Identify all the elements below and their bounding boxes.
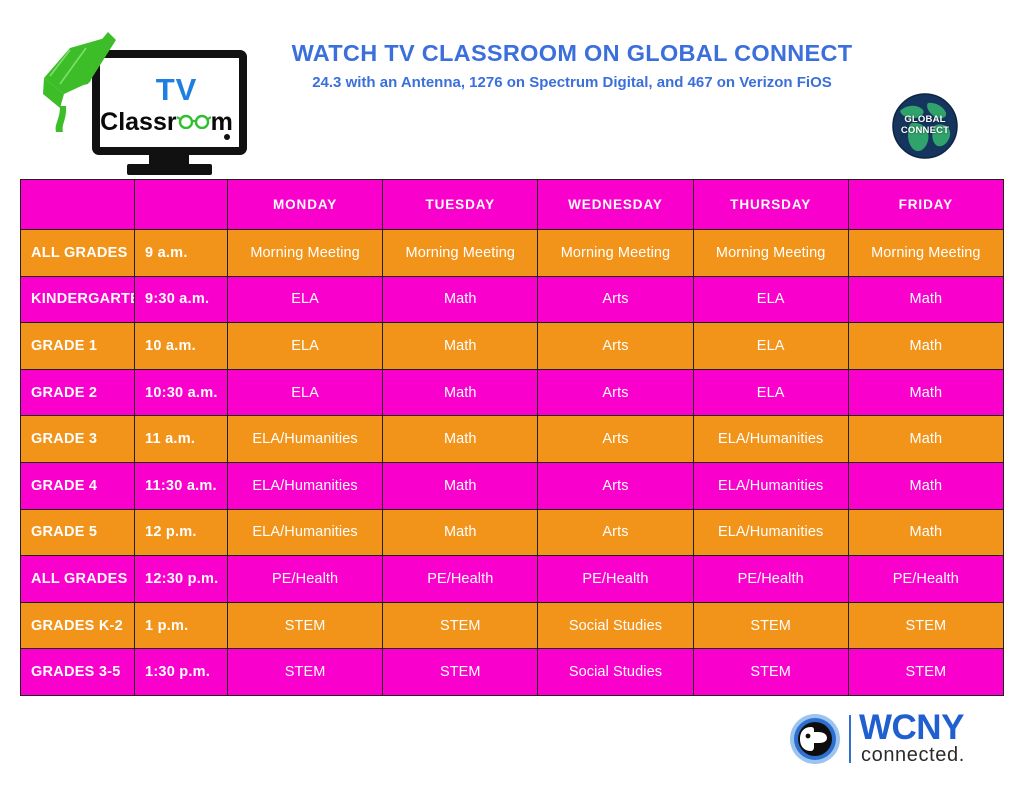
page-header: TV Classr m [0, 0, 1024, 178]
column-header-tuesday: TUESDAY [383, 180, 538, 230]
schedule-table-container: MONDAY TUESDAY WEDNESDAY THURSDAY FRIDAY… [20, 179, 1003, 696]
wcny-tagline: connected. [861, 745, 965, 765]
table-row: ALL GRADES9 a.m.Morning MeetingMorning M… [21, 230, 1004, 277]
time-label-cell: 1:30 p.m. [135, 649, 228, 696]
subject-cell: ELA/Humanities [693, 509, 848, 556]
page-subtitle: 24.3 with an Antenna, 1276 on Spectrum D… [262, 74, 882, 91]
table-row: GRADE 311 a.m.ELA/HumanitiesMathArtsELA/… [21, 416, 1004, 463]
global-connect-logo: GLOBAL CONNECT [892, 93, 958, 159]
eyeglasses-icon [177, 109, 211, 125]
grade-label-cell: GRADE 3 [21, 416, 135, 463]
time-label-cell: 12 p.m. [135, 509, 228, 556]
grade-label-cell: GRADES K-2 [21, 602, 135, 649]
subject-cell: ELA [693, 369, 848, 416]
subject-cell: PE/Health [383, 556, 538, 603]
table-row: GRADE 411:30 a.m.ELA/HumanitiesMathArtsE… [21, 462, 1004, 509]
subject-cell: ELA [693, 323, 848, 370]
subject-cell: STEM [848, 602, 1003, 649]
subject-cell: Math [383, 369, 538, 416]
classroom-text-suffix: m [211, 110, 233, 135]
globe-icon [892, 93, 958, 159]
grade-label-cell: ALL GRADES [21, 556, 135, 603]
schedule-table-body: ALL GRADES9 a.m.Morning MeetingMorning M… [21, 230, 1004, 696]
subject-cell: STEM [383, 649, 538, 696]
tv-classroom-schedule-page: TV Classr m [0, 0, 1024, 791]
page-footer: WCNY connected. [0, 697, 1024, 791]
subject-cell: Arts [538, 369, 693, 416]
subject-cell: PE/Health [538, 556, 693, 603]
grade-label-cell: GRADE 4 [21, 462, 135, 509]
subject-cell: Arts [538, 462, 693, 509]
subject-cell: Math [383, 416, 538, 463]
subject-cell: PE/Health [228, 556, 383, 603]
subject-cell: Math [848, 323, 1003, 370]
table-row: GRADES 3-51:30 p.m.STEMSTEMSocial Studie… [21, 649, 1004, 696]
schedule-table-head: MONDAY TUESDAY WEDNESDAY THURSDAY FRIDAY [21, 180, 1004, 230]
wcny-logo: WCNY connected. [789, 709, 1004, 771]
subject-cell: Morning Meeting [848, 230, 1003, 277]
tv-stand-base [127, 164, 212, 175]
subject-cell: Social Studies [538, 602, 693, 649]
subject-cell: STEM [228, 649, 383, 696]
subject-cell: STEM [383, 602, 538, 649]
tv-logo-word-tv: TV [156, 74, 198, 105]
table-row: GRADE 210:30 a.m.ELAMathArtsELAMath [21, 369, 1004, 416]
grade-label-cell: ALL GRADES [21, 230, 135, 277]
subject-cell: ELA [693, 276, 848, 323]
time-label-cell: 11:30 a.m. [135, 462, 228, 509]
table-row: GRADE 512 p.m.ELA/HumanitiesMathArtsELA/… [21, 509, 1004, 556]
subject-cell: ELA/Humanities [228, 416, 383, 463]
subject-cell: ELA/Humanities [693, 462, 848, 509]
subject-cell: PE/Health [848, 556, 1003, 603]
time-label-cell: 10 a.m. [135, 323, 228, 370]
grade-label-cell: GRADES 3-5 [21, 649, 135, 696]
time-label-cell: 1 p.m. [135, 602, 228, 649]
subject-cell: Math [848, 462, 1003, 509]
page-title: WATCH TV CLASSROOM ON GLOBAL CONNECT [262, 40, 882, 68]
table-row: GRADE 110 a.m.ELAMathArtsELAMath [21, 323, 1004, 370]
subject-cell: Arts [538, 276, 693, 323]
subject-cell: Math [848, 276, 1003, 323]
subject-cell: STEM [228, 602, 383, 649]
subject-cell: Morning Meeting [383, 230, 538, 277]
grade-label-cell: GRADE 1 [21, 323, 135, 370]
subject-cell: ELA/Humanities [228, 509, 383, 556]
time-label-cell: 10:30 a.m. [135, 369, 228, 416]
subject-cell: ELA/Humanities [693, 416, 848, 463]
subject-cell: Math [383, 276, 538, 323]
time-label-cell: 9 a.m. [135, 230, 228, 277]
wcny-logo-divider [849, 715, 851, 763]
time-label-cell: 12:30 p.m. [135, 556, 228, 603]
time-label-cell: 11 a.m. [135, 416, 228, 463]
wcny-wordmark: WCNY [859, 710, 964, 745]
grade-label-cell: GRADE 5 [21, 509, 135, 556]
schedule-table: MONDAY TUESDAY WEDNESDAY THURSDAY FRIDAY… [20, 179, 1004, 696]
subject-cell: Math [383, 462, 538, 509]
subject-cell: PE/Health [693, 556, 848, 603]
grade-label-cell: GRADE 2 [21, 369, 135, 416]
subject-cell: ELA/Humanities [228, 462, 383, 509]
table-row: GRADES K-21 p.m.STEMSTEMSocial StudiesST… [21, 602, 1004, 649]
header-title-block: WATCH TV CLASSROOM ON GLOBAL CONNECT 24.… [262, 40, 882, 91]
tv-classroom-logo: TV Classr m [30, 28, 260, 168]
subject-cell: Social Studies [538, 649, 693, 696]
subject-cell: STEM [848, 649, 1003, 696]
column-header-friday: FRIDAY [848, 180, 1003, 230]
graduation-cap-icon [30, 28, 140, 140]
subject-cell: ELA [228, 369, 383, 416]
grade-label-cell: KINDERGARTEN [21, 276, 135, 323]
subject-cell: STEM [693, 649, 848, 696]
subject-cell: Arts [538, 509, 693, 556]
subject-cell: ELA [228, 276, 383, 323]
subject-cell: Math [848, 369, 1003, 416]
subject-cell: Math [383, 323, 538, 370]
subject-cell: Math [848, 509, 1003, 556]
subject-cell: Math [383, 509, 538, 556]
subject-cell: Arts [538, 416, 693, 463]
column-header-monday: MONDAY [228, 180, 383, 230]
header-blank-grade [21, 180, 135, 230]
subject-cell: Arts [538, 323, 693, 370]
subject-cell: Morning Meeting [538, 230, 693, 277]
table-row: KINDERGARTEN9:30 a.m.ELAMathArtsELAMath [21, 276, 1004, 323]
column-header-thursday: THURSDAY [693, 180, 848, 230]
subject-cell: Morning Meeting [693, 230, 848, 277]
column-header-wednesday: WEDNESDAY [538, 180, 693, 230]
table-row: ALL GRADES12:30 p.m.PE/HealthPE/HealthPE… [21, 556, 1004, 603]
subject-cell: Morning Meeting [228, 230, 383, 277]
table-header-row: MONDAY TUESDAY WEDNESDAY THURSDAY FRIDAY [21, 180, 1004, 230]
subject-cell: Math [848, 416, 1003, 463]
pbs-head-icon [789, 713, 841, 765]
time-label-cell: 9:30 a.m. [135, 276, 228, 323]
header-blank-time [135, 180, 228, 230]
subject-cell: ELA [228, 323, 383, 370]
subject-cell: STEM [693, 602, 848, 649]
